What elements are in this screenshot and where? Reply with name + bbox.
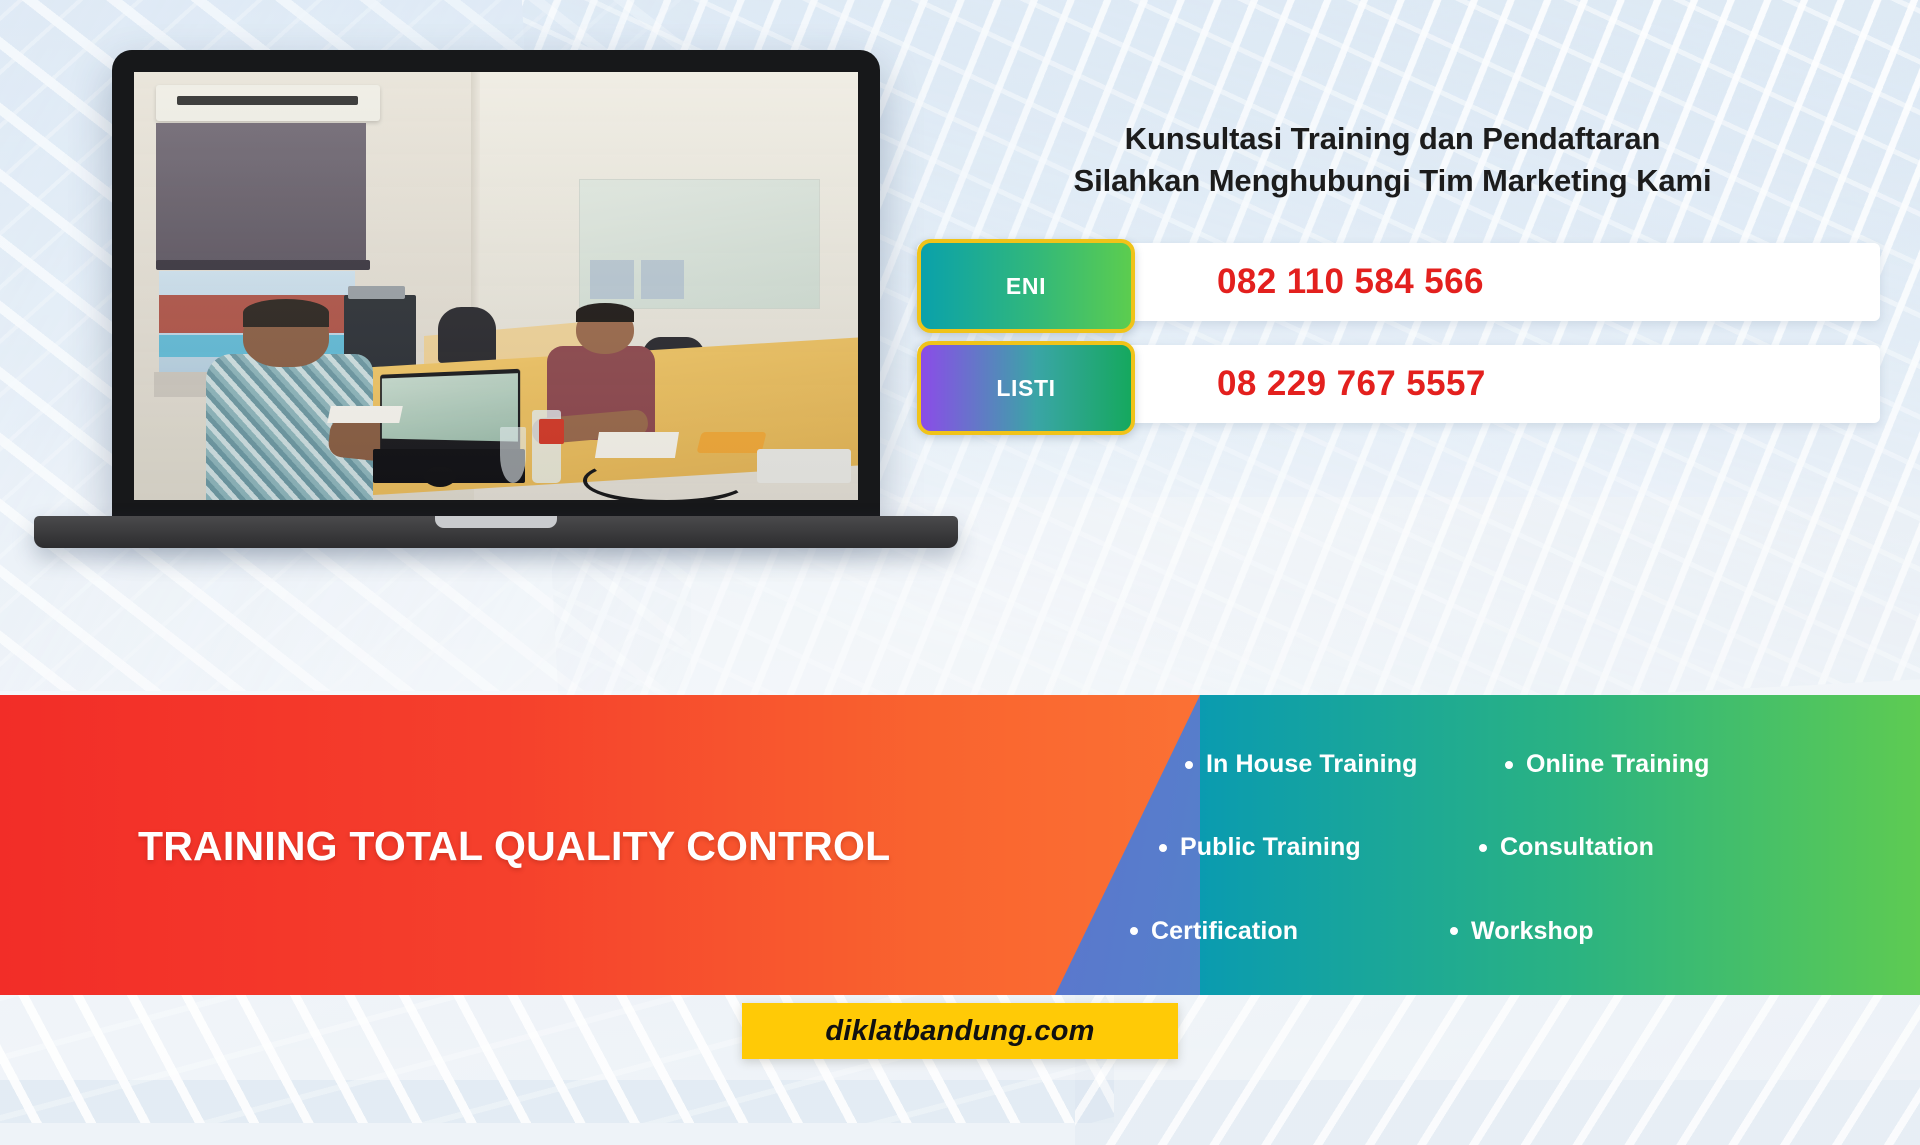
service-label: Public Training xyxy=(1180,833,1361,862)
training-room-photo xyxy=(134,72,858,500)
headline-line-2: Silahkan Menghubungi Tim Marketing Kami xyxy=(905,160,1880,202)
headline-line-1: Kunsultasi Training dan Pendaftaran xyxy=(1125,121,1661,156)
laptop-lid xyxy=(112,50,880,520)
service-label: Workshop xyxy=(1471,917,1594,946)
bullet-icon xyxy=(1130,927,1138,935)
service-item-consultation: Consultation xyxy=(1479,833,1859,862)
banner-title: TRAINING TOTAL QUALITY CONTROL xyxy=(138,823,1038,870)
service-item-public-training: Public Training xyxy=(1159,833,1479,862)
poster-stage: Kunsultasi Training dan Pendaftaran Sila… xyxy=(0,0,1920,1080)
contact-name-badge-listi: LISTI xyxy=(917,341,1135,435)
services-list: In House Training Online Training Public… xyxy=(1185,723,1885,973)
bullet-icon xyxy=(1159,844,1167,852)
laptop-base xyxy=(34,516,958,548)
headline: Kunsultasi Training dan Pendaftaran Sila… xyxy=(905,118,1880,201)
service-item-certification: Certification xyxy=(1130,917,1450,946)
service-label: Online Training xyxy=(1526,750,1709,779)
bottom-banner: TRAINING TOTAL QUALITY CONTROL In House … xyxy=(0,695,1920,995)
service-label: Consultation xyxy=(1500,833,1654,862)
contact-phone-listi[interactable]: 08 229 767 5557 xyxy=(1217,364,1486,404)
laptop-screen xyxy=(134,72,858,500)
contact-row-eni[interactable]: ENI 082 110 584 566 xyxy=(917,243,1880,321)
contact-phone-eni[interactable]: 082 110 584 566 xyxy=(1217,262,1484,302)
service-label: Certification xyxy=(1151,917,1298,946)
service-item-online-training: Online Training xyxy=(1505,750,1885,779)
bullet-icon xyxy=(1505,761,1513,769)
contact-list: ENI 082 110 584 566 LISTI 08 229 767 555… xyxy=(905,243,1880,423)
contact-panel: Kunsultasi Training dan Pendaftaran Sila… xyxy=(905,118,1880,423)
service-item-in-house-training: In House Training xyxy=(1185,750,1505,779)
bullet-icon xyxy=(1450,927,1458,935)
bullet-icon xyxy=(1185,761,1193,769)
laptop-mockup xyxy=(112,50,880,520)
website-badge[interactable]: diklatbandung.com xyxy=(742,1003,1178,1059)
service-item-workshop: Workshop xyxy=(1450,917,1830,946)
bullet-icon xyxy=(1479,844,1487,852)
contact-name-label-eni: ENI xyxy=(1006,273,1046,300)
laptop-trackpad-notch xyxy=(435,516,557,528)
photo-color-tone xyxy=(134,72,858,500)
website-url: diklatbandung.com xyxy=(825,1015,1094,1048)
contact-row-listi[interactable]: LISTI 08 229 767 5557 xyxy=(917,345,1880,423)
service-label: In House Training xyxy=(1206,750,1417,779)
contact-name-badge-eni: ENI xyxy=(917,239,1135,333)
contact-name-label-listi: LISTI xyxy=(996,375,1055,402)
